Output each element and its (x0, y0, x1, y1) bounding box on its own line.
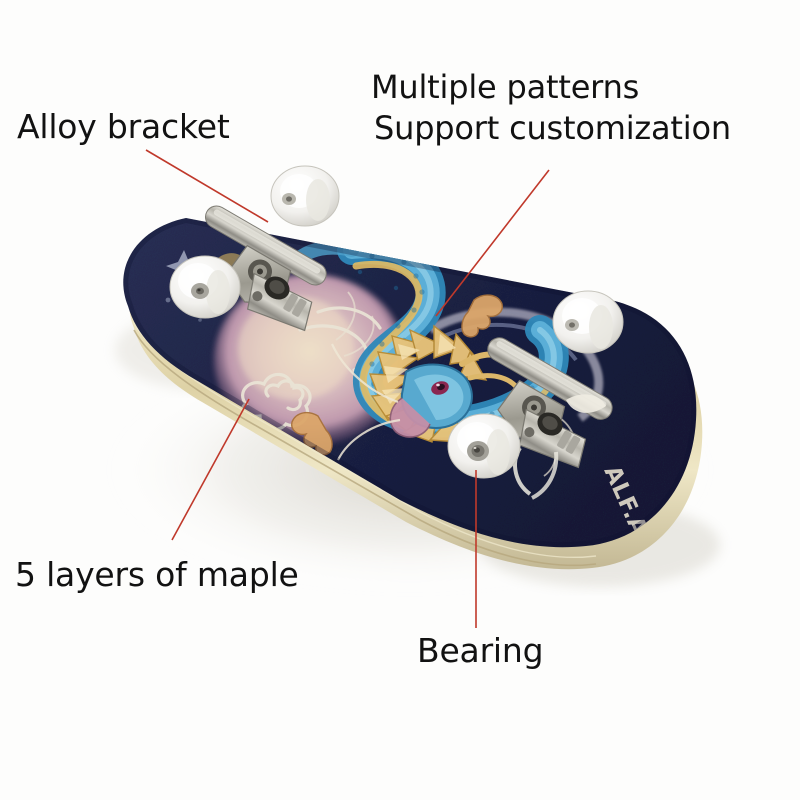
wheel-front-outer (553, 291, 623, 353)
wheel-front-inner[interactable] (448, 414, 520, 478)
bearing-detail (467, 441, 489, 461)
callout-label-multiple-patterns: Multiple patterns (371, 69, 639, 107)
callout-label-bearing: Bearing (417, 632, 543, 671)
callout-label-support-customization: Support customization (374, 110, 731, 148)
callout-label-five-layers-of-maple: 5 layers of maple (15, 556, 299, 595)
wheel-rear-inner (170, 256, 240, 318)
callout-label-alloy-bracket: Alloy bracket (17, 108, 230, 147)
wheel-rear-outer (271, 166, 339, 226)
product-image-canvas: ALF.AILEFU (0, 0, 800, 800)
